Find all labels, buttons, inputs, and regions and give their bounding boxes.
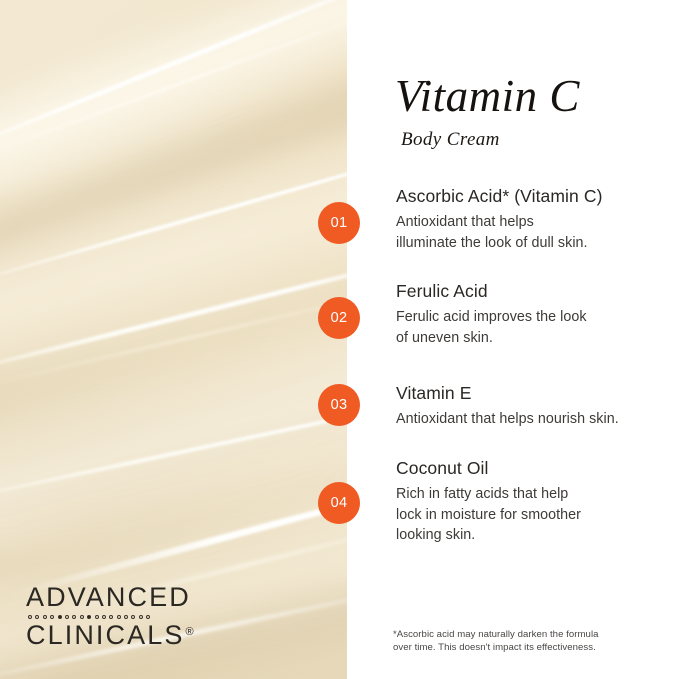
ingredient-description: Antioxidant that helps illuminate the lo… xyxy=(396,212,668,253)
brand-logo-dot xyxy=(139,615,143,619)
brand-logo-dot-row xyxy=(28,615,194,619)
ingredient-badge-02: 02 xyxy=(318,297,360,339)
brand-name-line-2-wrapper: CLINICALS ® xyxy=(26,622,194,649)
list-item: Vitamin E Antioxidant that helps nourish… xyxy=(396,383,668,430)
ingredient-description: Rich in fatty acids that help lock in mo… xyxy=(396,484,668,546)
list-item: Coconut Oil Rich in fatty acids that hel… xyxy=(396,458,668,546)
registered-trademark-icon: ® xyxy=(185,627,193,638)
ingredient-badge-01: 01 xyxy=(318,202,360,244)
brand-logo-dot xyxy=(72,615,76,619)
ingredient-name: Vitamin E xyxy=(396,383,668,404)
brand-name-line-1: ADVANCED xyxy=(26,584,194,611)
footnote-disclaimer: *Ascorbic acid may naturally darken the … xyxy=(393,628,643,654)
list-item: Ascorbic Acid* (Vitamin C) Antioxidant t… xyxy=(396,186,668,253)
ingredient-badge-04: 04 xyxy=(318,482,360,524)
brand-logo-dot xyxy=(117,615,121,619)
brand-name-line-2: CLINICALS xyxy=(26,622,184,649)
brand-logo-dot xyxy=(65,615,69,619)
brand-logo-dot xyxy=(131,615,135,619)
product-infographic: ADVANCED CLINICALS ® Vitamin C Body Crea… xyxy=(0,0,679,679)
ingredient-description: Ferulic acid improves the look of uneven… xyxy=(396,307,668,348)
brand-logo-dot xyxy=(102,615,106,619)
brand-logo-dot xyxy=(50,615,54,619)
ingredient-badge-03: 03 xyxy=(318,384,360,426)
ingredient-name: Coconut Oil xyxy=(396,458,668,479)
brand-logo-dot xyxy=(146,615,150,619)
brand-logo: ADVANCED CLINICALS ® xyxy=(26,584,194,649)
product-subtitle: Body Cream xyxy=(401,129,675,151)
brand-logo-dot xyxy=(124,615,128,619)
brand-logo-dot xyxy=(43,615,47,619)
brand-logo-dot xyxy=(35,615,39,619)
list-item: Ferulic Acid Ferulic acid improves the l… xyxy=(396,281,668,348)
brand-logo-dot xyxy=(58,615,62,619)
brand-logo-dot xyxy=(28,615,32,619)
page-title: Vitamin C xyxy=(395,74,675,119)
brand-logo-dot xyxy=(95,615,99,619)
product-texture-photo: ADVANCED CLINICALS ® xyxy=(0,0,347,679)
ingredient-name: Ferulic Acid xyxy=(396,281,668,302)
ingredient-name: Ascorbic Acid* (Vitamin C) xyxy=(396,186,668,207)
brand-logo-dot xyxy=(109,615,113,619)
title-block: Vitamin C Body Cream xyxy=(395,74,675,151)
brand-logo-dot xyxy=(87,615,91,619)
content-panel: Vitamin C Body Cream Ascorbic Acid* (Vit… xyxy=(347,0,679,679)
brand-logo-dot xyxy=(80,615,84,619)
ingredient-description: Antioxidant that helps nourish skin. xyxy=(396,409,668,430)
